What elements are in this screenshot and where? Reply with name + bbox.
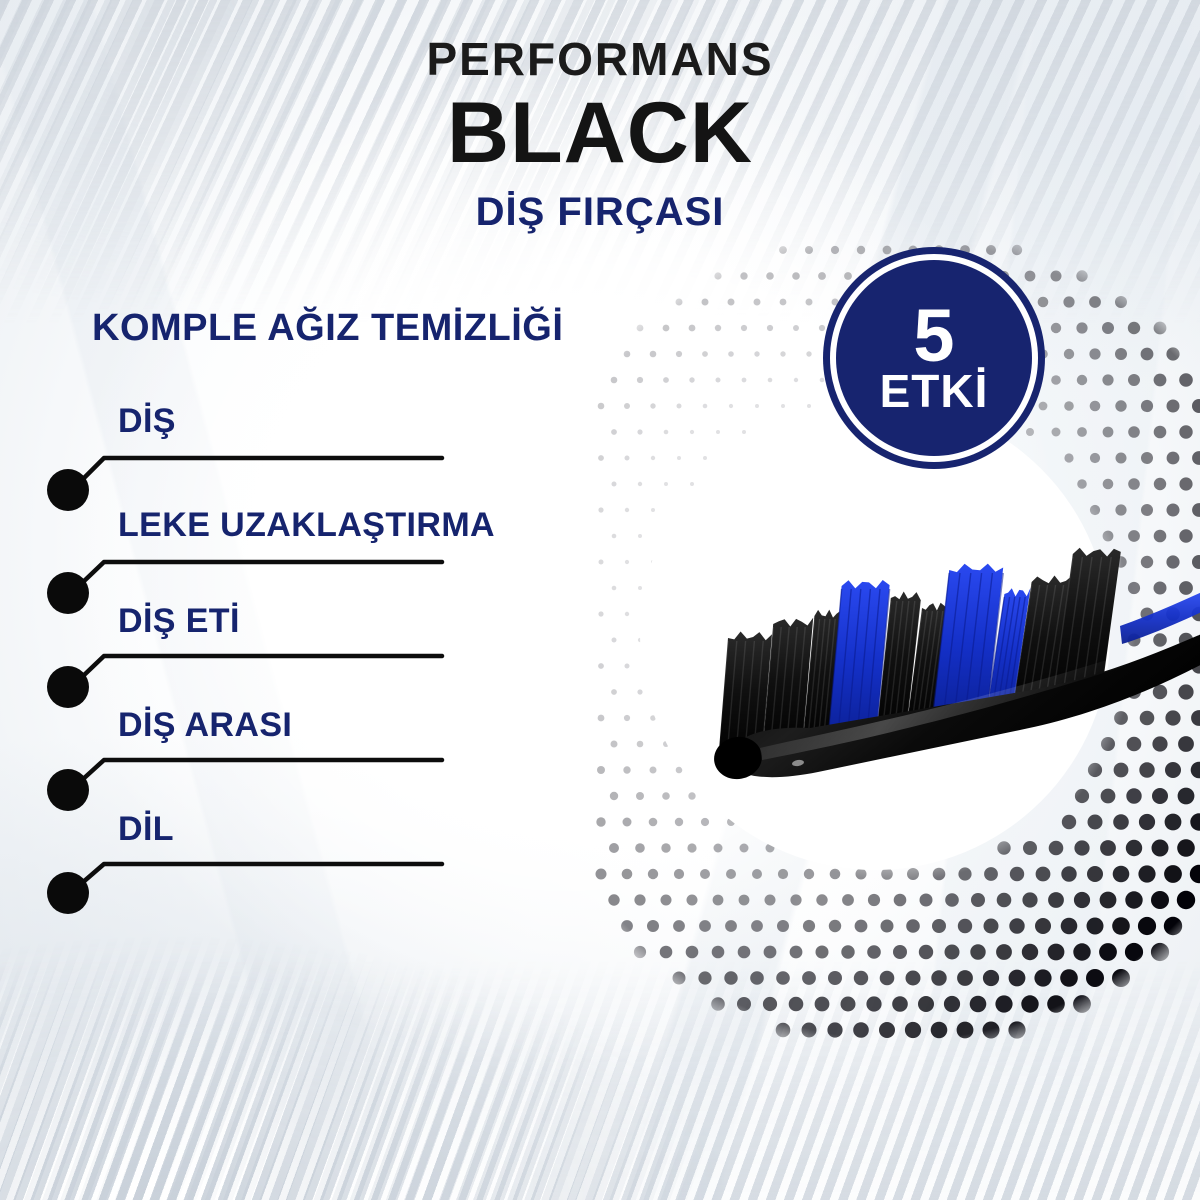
bullet-dot-icon <box>47 572 89 614</box>
feature-label: DİL <box>118 810 174 849</box>
brand-eyebrow: PERFORMANS <box>0 36 1200 82</box>
leader-line-icon <box>82 760 442 780</box>
product-subtitle: DİŞ FIRÇASI <box>0 192 1200 232</box>
status-badge: 5 ETKİ <box>836 260 1032 456</box>
feature-label: DİŞ ARASI <box>118 706 292 745</box>
bullet-dot-icon <box>47 769 89 811</box>
feature-label: LEKE UZAKLAŞTIRMA <box>118 506 495 545</box>
bullet-dot-icon <box>47 469 89 511</box>
features-heading: KOMPLE AĞIZ TEMİZLİĞİ <box>92 307 563 350</box>
feature-label: DİŞ <box>118 402 176 441</box>
badge-label: ETKİ <box>880 370 989 414</box>
product-infographic: PERFORMANS BLACK DİŞ FIRÇASI KOMPLE AĞIZ… <box>0 0 1200 1200</box>
bullet-dot-icon <box>47 872 89 914</box>
leader-line-icon <box>82 562 442 583</box>
badge-number: 5 <box>913 303 954 368</box>
handle-blue-accent <box>1120 592 1200 644</box>
header-block: PERFORMANS BLACK DİŞ FIRÇASI <box>0 0 1200 232</box>
leader-line-icon <box>82 458 442 480</box>
leader-line-icon <box>82 656 442 677</box>
leader-line-icon <box>82 864 442 883</box>
feature-label: DİŞ ETİ <box>118 602 240 641</box>
page-title: BLACK <box>0 90 1200 176</box>
toothbrush-icon <box>690 520 1200 860</box>
bullet-dot-icon <box>47 666 89 708</box>
